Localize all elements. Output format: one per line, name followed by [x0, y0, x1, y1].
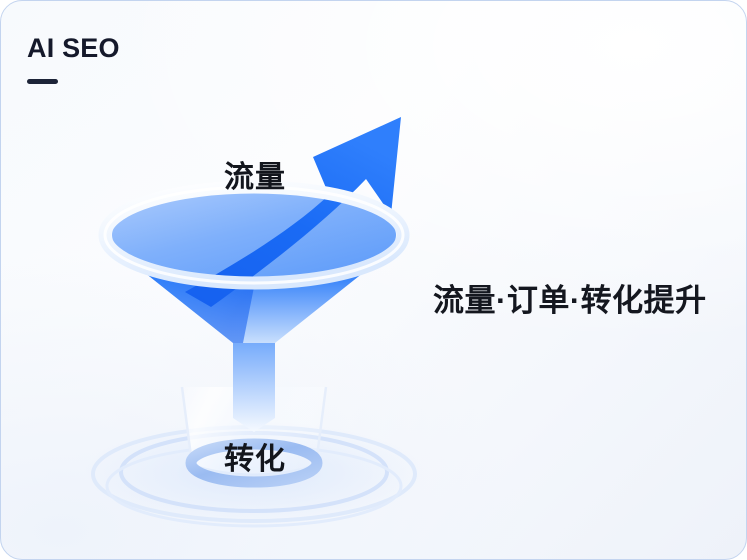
label-conversion: 转化: [224, 434, 286, 478]
headline-text: 流量·订单·转化提升: [433, 275, 707, 320]
label-traffic: 流量: [224, 152, 286, 196]
title-underline-rule: [27, 79, 58, 84]
brand-block: AI SEO: [27, 35, 327, 84]
funnel-stem: [233, 335, 275, 432]
funnel-illustration: 流量 转化: [61, 91, 461, 541]
page-title: AI SEO: [27, 35, 327, 62]
poster-canvas: AI SEO 流量·订单·转化提升: [0, 0, 747, 560]
